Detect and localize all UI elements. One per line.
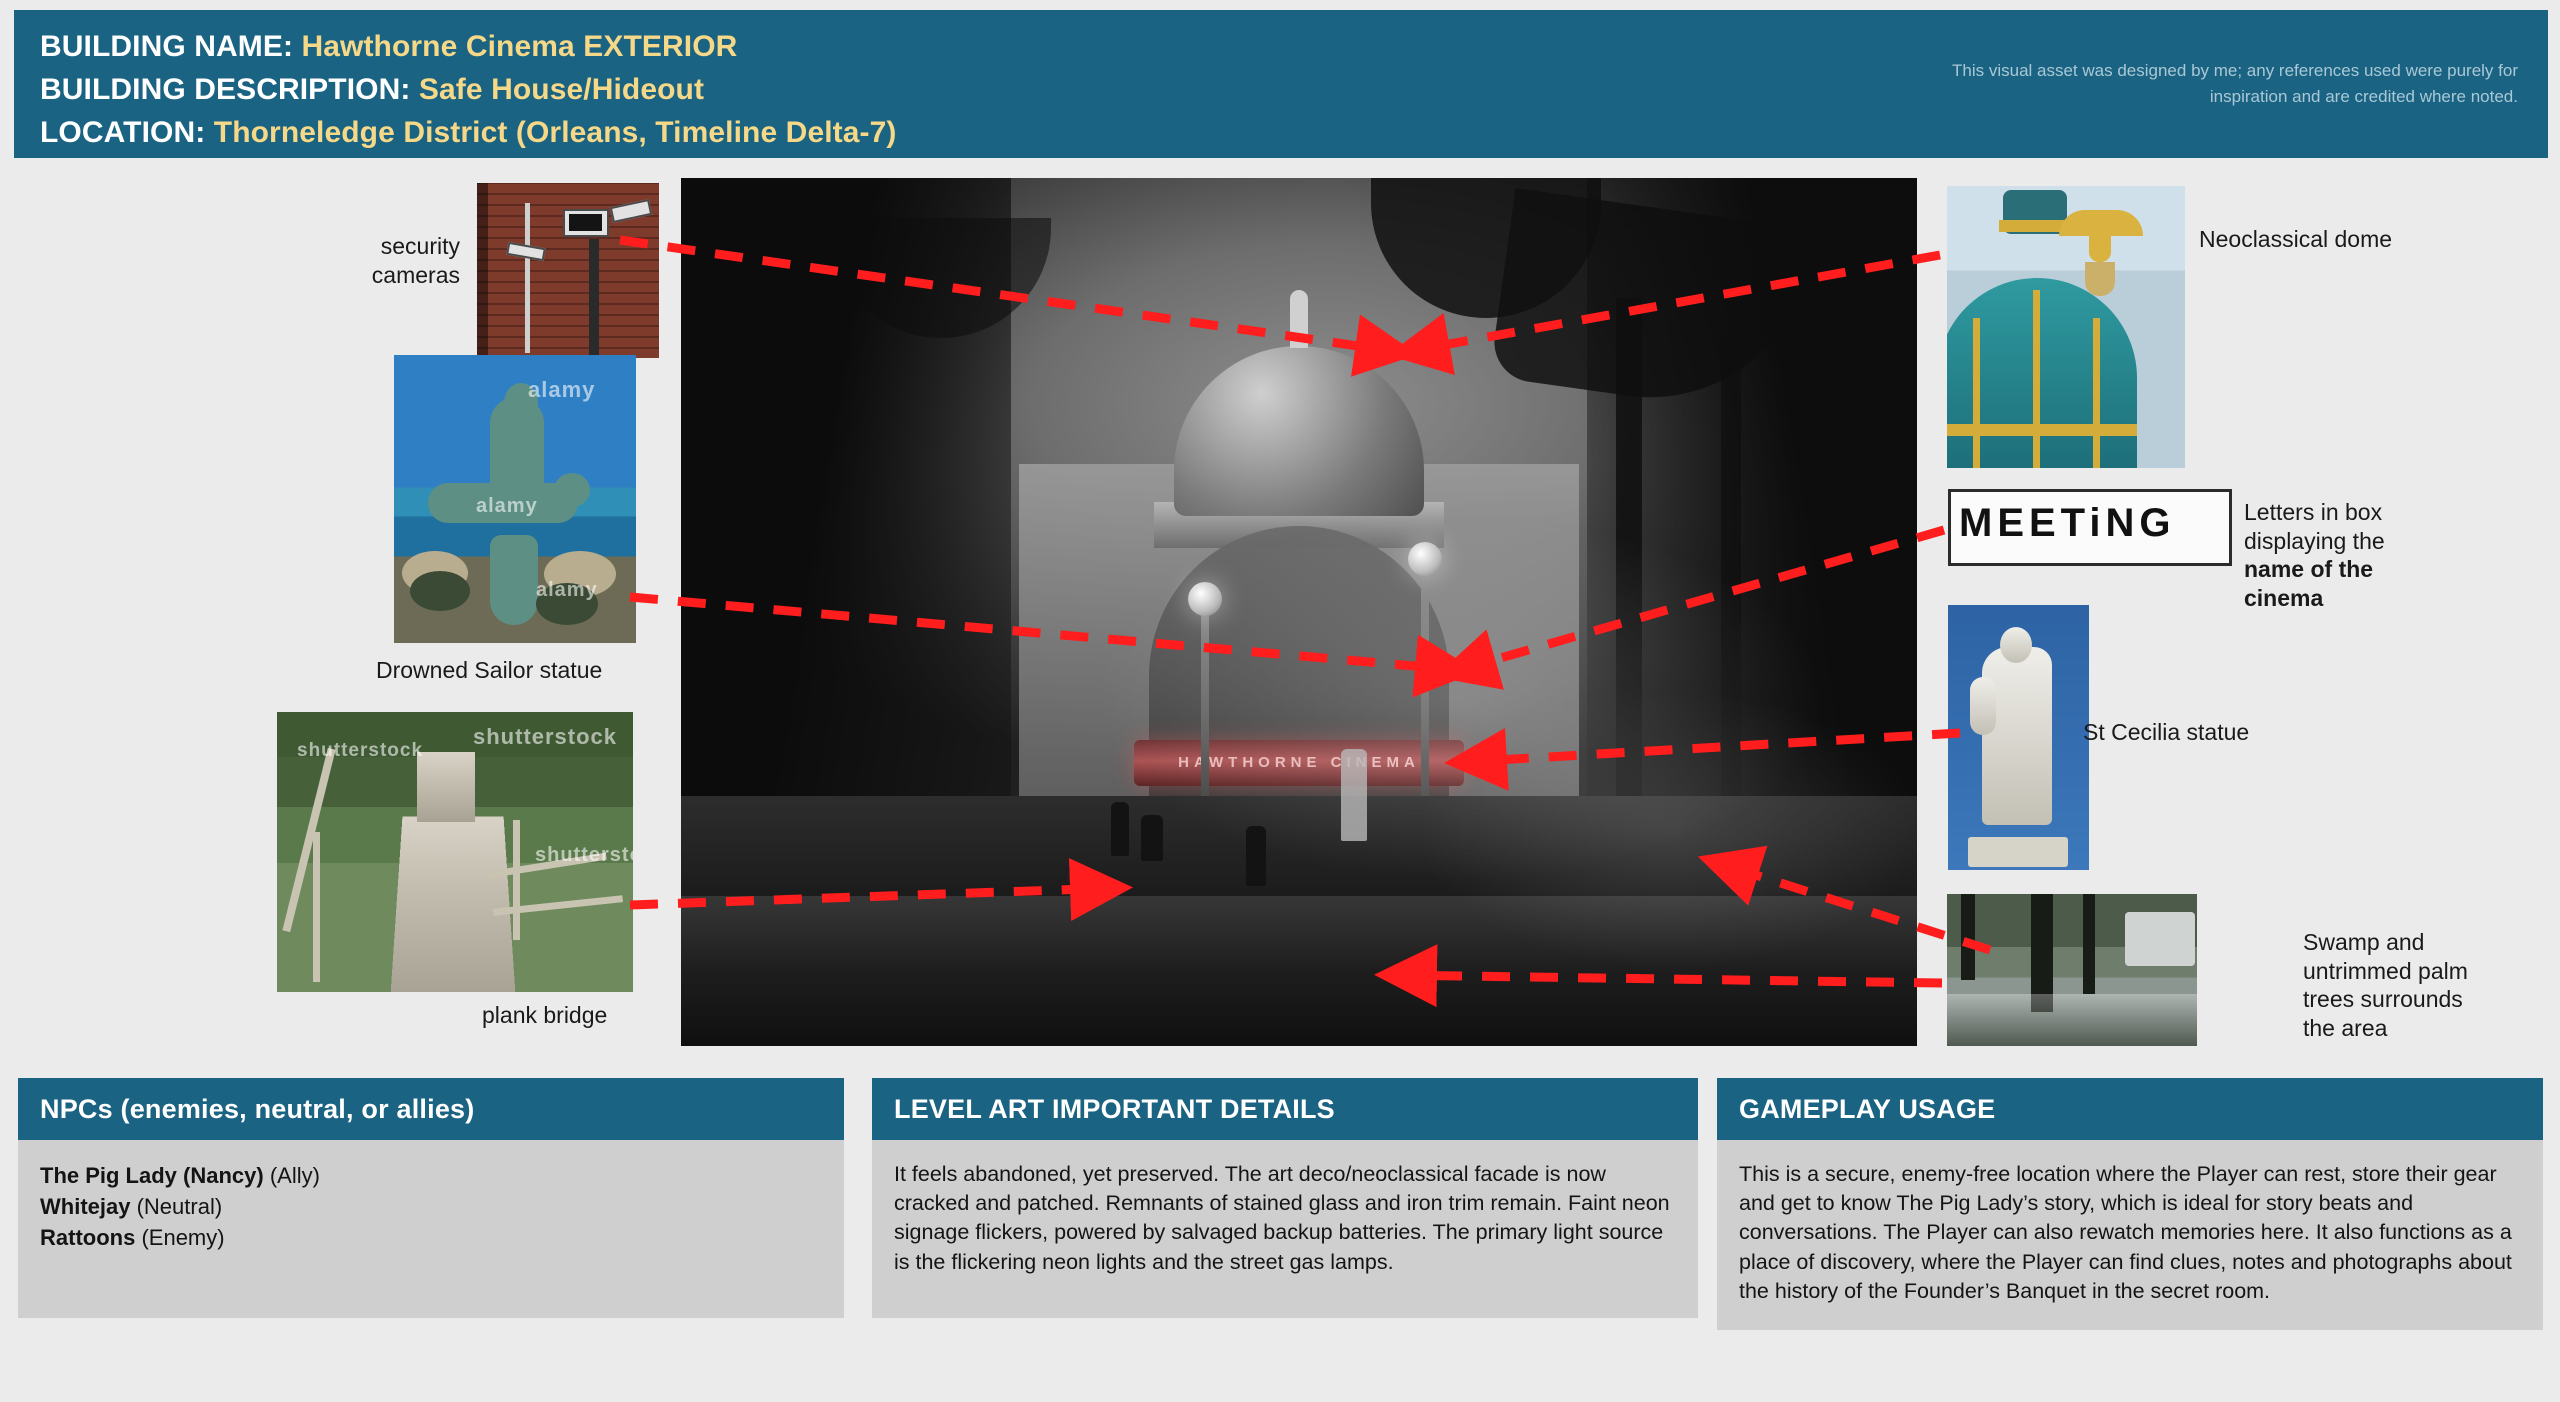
reference-photo-neoclassical-dome xyxy=(1947,186,2185,468)
label-meeting-bold1: name of the xyxy=(2244,556,2373,582)
dome-gold-rib xyxy=(2033,290,2040,468)
npc-name: Rattoons xyxy=(40,1225,135,1250)
reference-photo-security-cameras xyxy=(477,183,659,358)
gold-eagle-body xyxy=(2089,214,2111,262)
label-security-cameras: security cameras xyxy=(200,232,460,289)
reference-photo-meeting-letter-sign: MEETiNG xyxy=(1948,489,2232,566)
npc-list-item: The Pig Lady (Nancy) (Ally) xyxy=(40,1160,822,1191)
header-value-building-description: Safe House/Hideout xyxy=(419,73,704,106)
statue-seaweed xyxy=(410,571,470,611)
panel-gameplay-header: GAMEPLAY USAGE xyxy=(1717,1078,2543,1140)
dome-gold-cornice xyxy=(1947,424,2137,436)
panel-gameplay-usage: GAMEPLAY USAGE This is a secure, enemy-f… xyxy=(1717,1078,2543,1330)
swamp-reflection xyxy=(1947,994,2197,1046)
reference-photo-st-cecilia-statue xyxy=(1948,605,2089,870)
header-value-location: Thorneledge District (Orleans, Timeline … xyxy=(214,116,897,149)
dome-gold-rib xyxy=(1973,318,1980,468)
camera-lens xyxy=(569,214,602,231)
panel-npcs-body: The Pig Lady (Nancy) (Ally) Whitejay (Ne… xyxy=(18,1140,844,1318)
statue-seaweed xyxy=(536,583,598,625)
camera-conduit xyxy=(589,239,599,357)
npc-name: Whitejay xyxy=(40,1194,130,1219)
npc-list-item: Rattoons (Enemy) xyxy=(40,1222,822,1253)
reference-sheet-page: BUILDING NAME: Hawthorne Cinema EXTERIOR… xyxy=(0,0,2560,1402)
label-swamp-line3: trees surrounds xyxy=(2303,985,2553,1014)
panel-level-art-header: LEVEL ART IMPORTANT DETAILS xyxy=(872,1078,1698,1140)
bridge-plank xyxy=(390,816,516,992)
label-security-cameras-line1: security xyxy=(200,232,460,261)
statue-sailor-head xyxy=(554,473,590,507)
label-swamp-line4: the area xyxy=(2303,1014,2553,1043)
bridge-plank xyxy=(417,752,475,822)
panel-level-art-title: LEVEL ART IMPORTANT DETAILS xyxy=(894,1094,1335,1125)
reference-photo-plank-bridge: shutterstock shutterstock shutterstock xyxy=(277,712,633,992)
cypress-trunk xyxy=(2083,894,2095,994)
label-meeting-line2: displaying the xyxy=(2244,527,2534,556)
panel-level-art-text: It feels abandoned, yet preserved. The a… xyxy=(894,1160,1676,1277)
panel-level-art-details: LEVEL ART IMPORTANT DETAILS It feels aba… xyxy=(872,1078,1698,1318)
player-silhouette xyxy=(1246,826,1266,886)
npc-list-item: Whitejay (Neutral) xyxy=(40,1191,822,1222)
swamp-boat xyxy=(2125,912,2195,966)
panel-level-art-body: It feels abandoned, yet preserved. The a… xyxy=(872,1140,1698,1318)
reference-photo-swamp-palms xyxy=(1947,894,2197,1046)
camera-housing xyxy=(610,199,652,223)
npc-role: (Neutral) xyxy=(137,1194,223,1219)
gold-eagle-pedestal xyxy=(2085,262,2115,296)
statue-head xyxy=(2000,627,2032,663)
dome-gold-rib xyxy=(2093,318,2100,468)
panel-npcs-header: NPCs (enemies, neutral, or allies) xyxy=(18,1078,844,1140)
npc-role: (Ally) xyxy=(270,1163,320,1188)
npc-silhouette xyxy=(1111,802,1129,856)
statue-silhouette xyxy=(1341,749,1367,841)
label-swamp-line2: untrimmed palm xyxy=(2303,957,2553,986)
panel-gameplay-text: This is a secure, enemy-free location wh… xyxy=(1739,1160,2521,1306)
label-meeting-sign: Letters in box displaying the name of th… xyxy=(2244,498,2534,612)
statue-mermaid-tail xyxy=(490,535,538,625)
panel-npcs-title: NPCs (enemies, neutral, or allies) xyxy=(40,1094,474,1125)
label-meeting-line1: Letters in box xyxy=(2244,498,2534,527)
header-bar: BUILDING NAME: Hawthorne Cinema EXTERIOR… xyxy=(14,10,2548,158)
bridge-handrail xyxy=(282,748,335,932)
header-label-building-description: BUILDING DESCRIPTION: xyxy=(40,73,410,106)
header-value-building-name: Hawthorne Cinema EXTERIOR xyxy=(301,30,737,63)
shutterstock-watermark: shutterstock xyxy=(297,740,423,762)
label-st-cecilia-statue: St Cecilia statue xyxy=(2083,718,2403,747)
camera-pole xyxy=(525,203,530,353)
header-label-building-name: BUILDING NAME: xyxy=(40,30,293,63)
label-meeting-bold2: cinema xyxy=(2244,585,2323,611)
concept-art-image: HAWTHORNE CINEMA xyxy=(681,178,1917,1046)
npc-name: The Pig Lady (Nancy) xyxy=(40,1163,264,1188)
header-row-location: LOCATION: Thorneledge District (Orleans,… xyxy=(40,112,2522,155)
statue-arm xyxy=(1970,677,1996,735)
alamy-watermark: alamy xyxy=(528,377,595,403)
label-security-cameras-line2: cameras xyxy=(200,261,460,290)
label-swamp-area: Swamp and untrimmed palm trees surrounds… xyxy=(2303,928,2553,1042)
shutterstock-watermark: shutterstock xyxy=(473,724,617,750)
panel-gameplay-body: This is a secure, enemy-free location wh… xyxy=(1717,1140,2543,1330)
npc-role: (Enemy) xyxy=(141,1225,224,1250)
reference-photo-drowned-sailor-statue: alamy alamy alamy xyxy=(394,355,636,643)
panel-npcs: NPCs (enemies, neutral, or allies) The P… xyxy=(18,1078,844,1318)
label-plank-bridge: plank bridge xyxy=(482,1001,782,1030)
statue-mermaid-head xyxy=(504,383,538,423)
bridge-support-pole xyxy=(313,832,320,982)
npc-silhouette xyxy=(1141,815,1163,861)
concept-mist xyxy=(681,178,1917,1046)
bridge-support-pole xyxy=(513,820,520,940)
label-drowned-sailor-statue: Drowned Sailor statue xyxy=(376,656,696,685)
meeting-sign-text: MEETiNG xyxy=(1959,501,2223,557)
statue-robe xyxy=(1982,647,2052,825)
cypress-trunk xyxy=(1961,894,1975,980)
panel-gameplay-title: GAMEPLAY USAGE xyxy=(1739,1094,1995,1125)
header-label-location: LOCATION: xyxy=(40,116,205,149)
header-disclaimer-note: This visual asset was designed by me; an… xyxy=(1878,58,2518,111)
label-swamp-line1: Swamp and xyxy=(2303,928,2553,957)
statue-pedestal xyxy=(1968,837,2068,867)
label-neoclassical-dome: Neoclassical dome xyxy=(2199,225,2559,254)
